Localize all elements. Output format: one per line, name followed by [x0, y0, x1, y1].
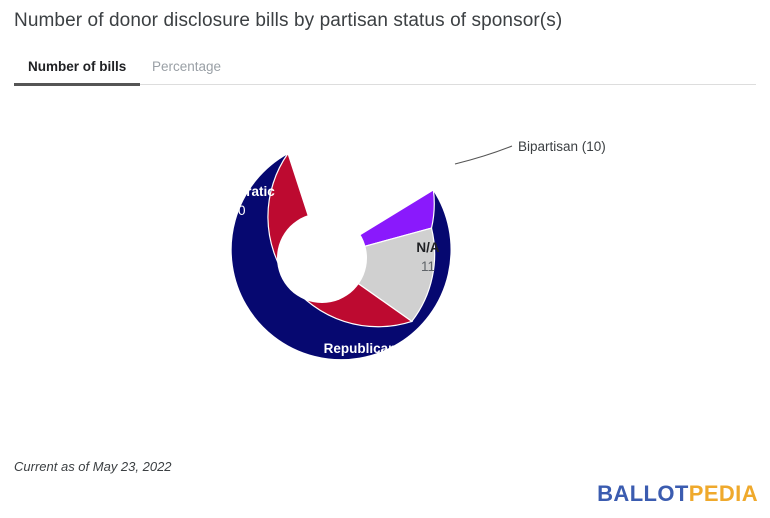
callout-leader-line: [455, 146, 512, 164]
slice-label-republican-name: Republican: [324, 341, 397, 356]
logo-text-pedia: PEDIA: [689, 481, 758, 506]
slice-label-democratic-name: Democratic: [201, 184, 275, 199]
slice-label-democratic-value: 60: [230, 203, 245, 218]
callout-label-bipartisan: Bipartisan (10): [518, 139, 606, 154]
footnote-current-as-of: Current as of May 23, 2022: [14, 459, 172, 474]
donut-chart-svg: Democratic 60 Republican 35 N/A 11 Bipar…: [0, 0, 770, 460]
slice-label-na-name: N/A: [416, 240, 440, 255]
slice-label-na-value: 11: [421, 259, 435, 274]
slice-label-republican-value: 35: [352, 360, 367, 375]
donut-hole: [277, 213, 367, 303]
donut-chart: Democratic 60 Republican 35 N/A 11 Bipar…: [0, 0, 770, 460]
ballotpedia-logo: BALLOTPEDIA: [597, 481, 758, 507]
logo-text-ballot: BALLOT: [597, 481, 689, 506]
